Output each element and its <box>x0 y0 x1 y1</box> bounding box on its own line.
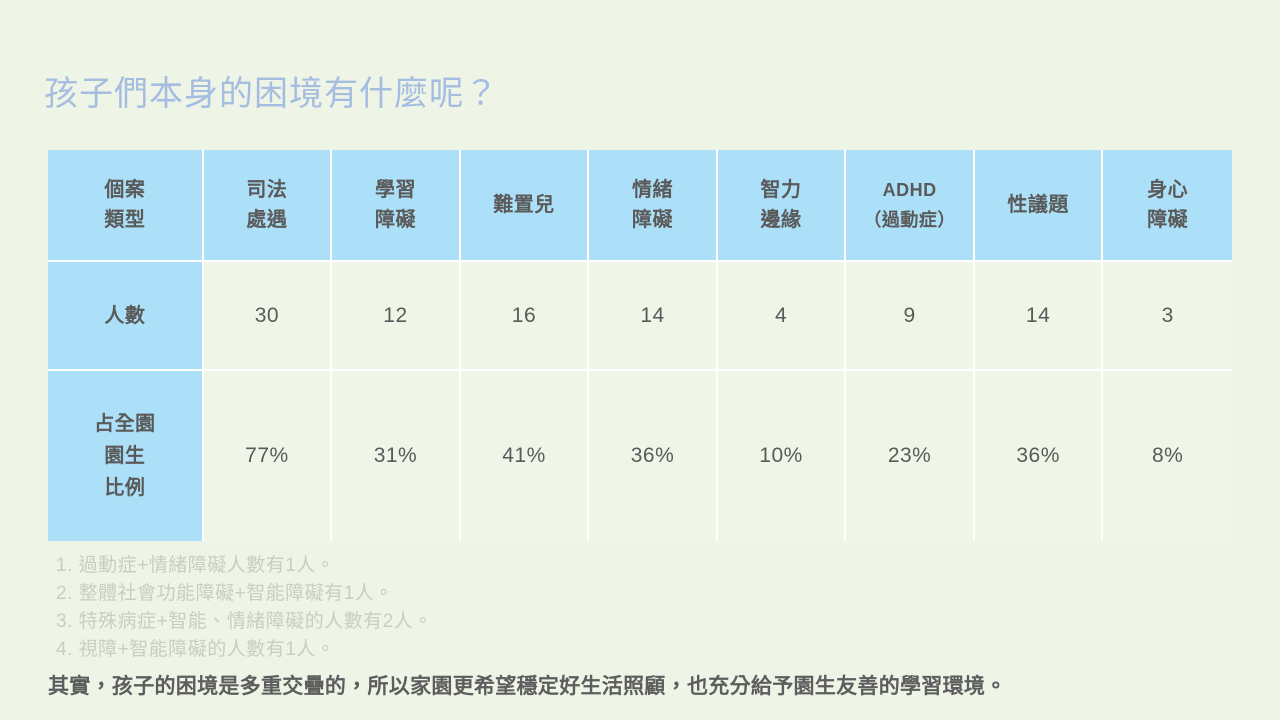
table-header-row: 個案 類型 司法 處遇 學習 障礙 難置兒 情緒 障礙 <box>48 150 1232 262</box>
row-label-count: 人數 <box>48 262 204 371</box>
footnote-list: 1. 過動症+情緒障礙人數有1人。 2. 整體社會功能障礙+智能障礙有1人。 3… <box>56 552 1236 664</box>
cell-count-adhd: 9 <box>846 262 975 371</box>
row-label-line: 人數 <box>48 300 202 332</box>
header-line: 障礙 <box>332 205 459 235</box>
header-cell-emotional: 情緒 障礙 <box>589 150 718 262</box>
header-line: 難置兒 <box>461 190 588 220</box>
header-cell-case-type: 個案 類型 <box>48 150 204 262</box>
header-cell-judicial: 司法 處遇 <box>204 150 333 262</box>
cell-ratio-learning: 31% <box>332 371 461 541</box>
header-line: （過動症） <box>846 205 973 235</box>
header-cell-sexual-issue: 性議題 <box>975 150 1104 262</box>
footnote-item: 1. 過動症+情緒障礙人數有1人。 <box>56 552 1236 580</box>
row-label-ratio: 占全園 園生 比例 <box>48 371 204 541</box>
slide-canvas: 孩子們本身的困境有什麼呢？ 個案 類型 司法 處遇 學習 障礙 <box>0 0 1280 720</box>
header-line: 處遇 <box>204 205 331 235</box>
header-line: 學習 <box>332 175 459 205</box>
row-label-line: 比例 <box>48 472 202 504</box>
page-title: 孩子們本身的困境有什麼呢？ <box>44 72 499 116</box>
header-line: 個案 <box>48 175 202 205</box>
cell-ratio-borderline-iq: 10% <box>718 371 847 541</box>
footnote-item: 2. 整體社會功能障礙+智能障礙有1人。 <box>56 580 1236 608</box>
cell-count-sexual-issue: 14 <box>975 262 1104 371</box>
cell-count-hard-placement: 16 <box>461 262 590 371</box>
cell-ratio-disability: 8% <box>1103 371 1232 541</box>
cell-count-judicial: 30 <box>204 262 333 371</box>
header-line: 情緒 <box>589 175 716 205</box>
row-label-line: 園生 <box>48 440 202 472</box>
header-cell-learning: 學習 障礙 <box>332 150 461 262</box>
conclusion-text: 其實，孩子的困境是多重交疊的，所以家園更希望穩定好生活照顧，也充分給予園生友善的… <box>48 672 1007 702</box>
cell-ratio-judicial: 77% <box>204 371 333 541</box>
cell-count-disability: 3 <box>1103 262 1232 371</box>
table-row-count: 人數 30 12 16 14 4 9 14 3 <box>48 262 1232 371</box>
cell-ratio-adhd: 23% <box>846 371 975 541</box>
header-line: ADHD <box>846 175 973 205</box>
header-line: 性議題 <box>975 190 1102 220</box>
case-type-table: 個案 類型 司法 處遇 學習 障礙 難置兒 情緒 障礙 <box>48 150 1232 541</box>
cell-count-borderline-iq: 4 <box>718 262 847 371</box>
cell-ratio-hard-placement: 41% <box>461 371 590 541</box>
header-line: 司法 <box>204 175 331 205</box>
header-line: 身心 <box>1103 175 1232 205</box>
header-line: 障礙 <box>589 205 716 235</box>
cell-ratio-sexual-issue: 36% <box>975 371 1104 541</box>
footnote-item: 4. 視障+智能障礙的人數有1人。 <box>56 636 1236 664</box>
header-cell-disability: 身心 障礙 <box>1103 150 1232 262</box>
cell-count-learning: 12 <box>332 262 461 371</box>
header-cell-hard-placement: 難置兒 <box>461 150 590 262</box>
cell-count-emotional: 14 <box>589 262 718 371</box>
row-label-line: 占全園 <box>48 408 202 440</box>
cell-ratio-emotional: 36% <box>589 371 718 541</box>
footnote-item: 3. 特殊病症+智能、情緒障礙的人數有2人。 <box>56 608 1236 636</box>
header-cell-borderline-iq: 智力 邊緣 <box>718 150 847 262</box>
header-line: 障礙 <box>1103 205 1232 235</box>
header-line: 類型 <box>48 205 202 235</box>
header-line: 邊緣 <box>718 205 845 235</box>
header-line: 智力 <box>718 175 845 205</box>
header-cell-adhd: ADHD （過動症） <box>846 150 975 262</box>
table-row-ratio: 占全園 園生 比例 77% 31% 41% 36% 10% 23% 36% 8% <box>48 371 1232 541</box>
